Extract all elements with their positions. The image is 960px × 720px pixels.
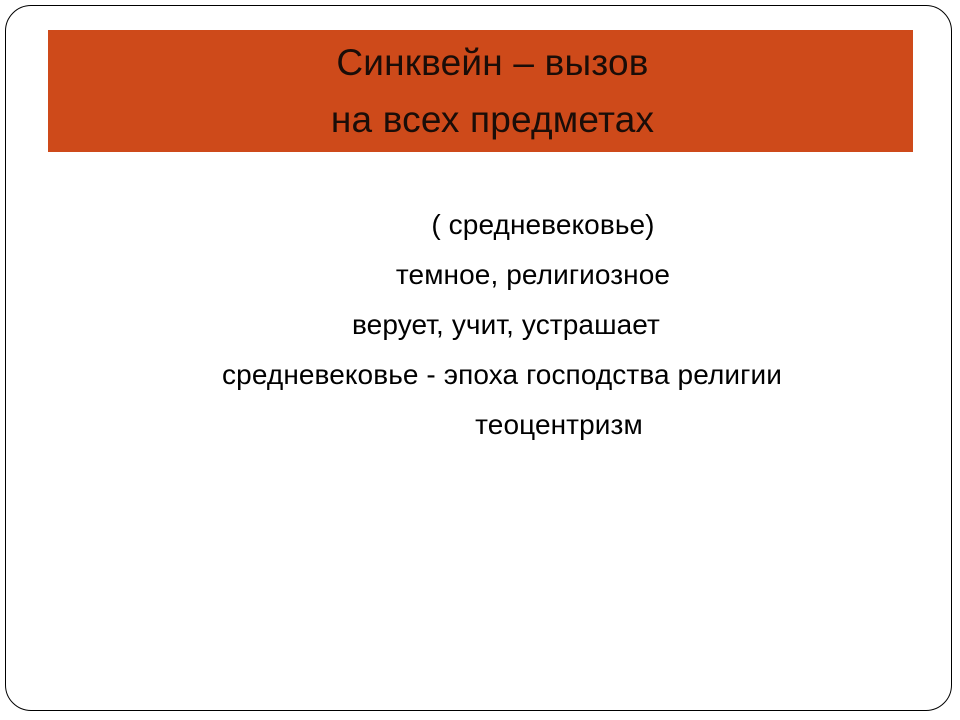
presentation-slide: Синквейн – вызов на всех предметах ( сре… (0, 0, 960, 720)
sinkwain-line-1: ( средневековье) (331, 200, 654, 250)
sinkwain-line-5: теоцентризм (343, 400, 643, 450)
title-line-1: Синквейн – вызов (312, 34, 648, 91)
title-line-2: на всех предметах (307, 91, 654, 148)
sinkwain-line-4: средневековье - эпоха господства религии (204, 350, 782, 400)
sinkwain-body: ( средневековье) темное, религиозное вер… (48, 200, 938, 450)
sinkwain-line-2: темное, религиозное (316, 250, 670, 300)
title-banner: Синквейн – вызов на всех предметах (48, 30, 913, 152)
sinkwain-line-3: верует, учит, устрашает (326, 300, 660, 350)
